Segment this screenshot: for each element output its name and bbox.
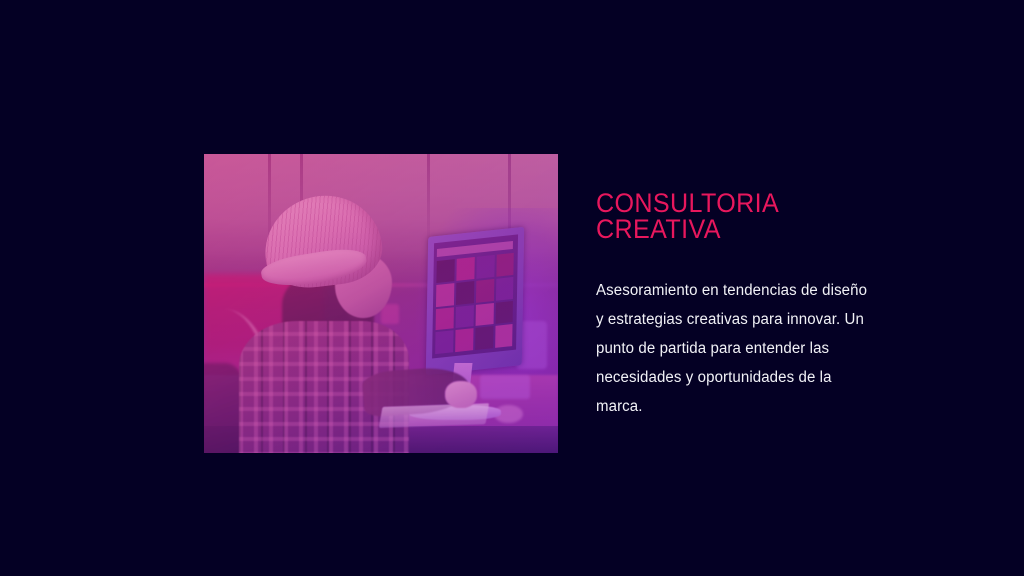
photo-stage: [204, 154, 558, 453]
slide-canvas: CONSULTORIA CREATIVA Asesoramiento en te…: [0, 0, 1024, 576]
page-title: CONSULTORIA CREATIVA: [596, 190, 866, 242]
text-column: CONSULTORIA CREATIVA Asesoramiento en te…: [596, 190, 886, 421]
feature-photo: [204, 154, 558, 453]
duotone-tint: [204, 154, 558, 453]
body-paragraph: Asesoramiento en tendencias de diseño y …: [596, 242, 877, 421]
